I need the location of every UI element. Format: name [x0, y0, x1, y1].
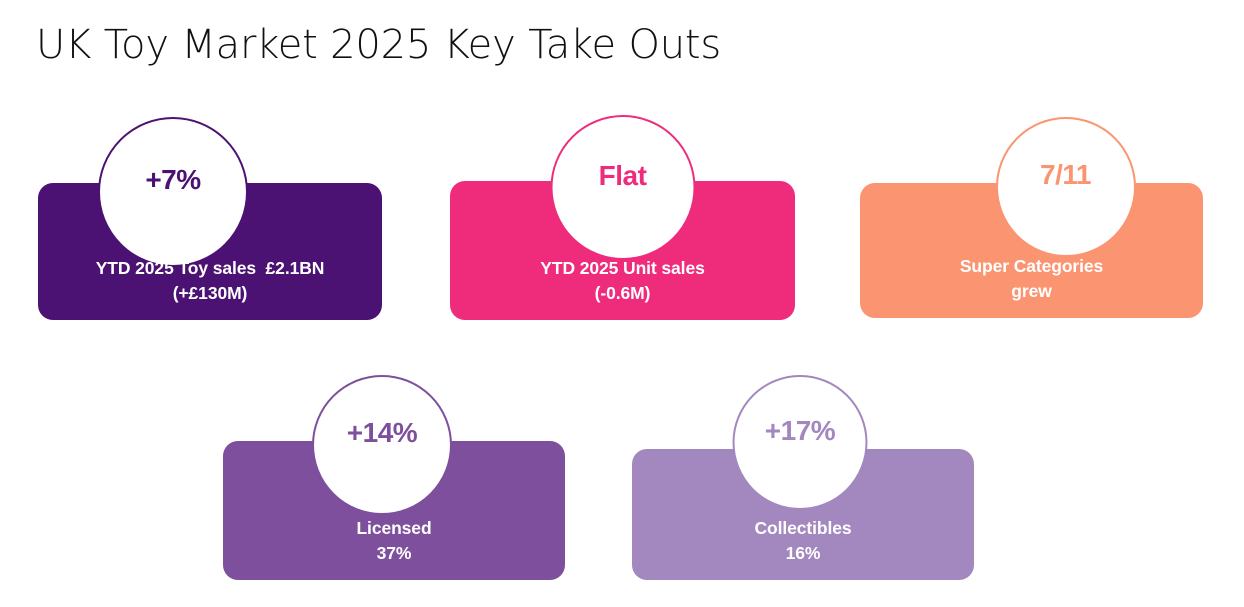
badge-value-unit-sales: Flat	[599, 162, 647, 190]
card-label-line2: (-0.6M)	[595, 281, 651, 306]
key-takeouts-cards: YTD 2025 Toy sales £2.1BN (+£130M) +7% Y…	[0, 0, 1244, 607]
badge-circle-super-categories: 7/11	[996, 117, 1136, 257]
card-label-line1: YTD 2025 Unit sales	[540, 256, 704, 281]
card-label-line1: Super Categories	[960, 254, 1103, 279]
card-label-line2: 37%	[377, 541, 412, 566]
stat-card-licensed[interactable]: Licensed 37% +14%	[223, 375, 565, 580]
badge-value-toy-sales: +7%	[145, 166, 200, 194]
badge-value-super-categories: 7/11	[1040, 161, 1091, 189]
stat-card-toy-sales[interactable]: YTD 2025 Toy sales £2.1BN (+£130M) +7%	[38, 117, 382, 320]
stat-card-super-categories[interactable]: Super Categories grew 7/11	[860, 117, 1203, 318]
card-label-line1: Collectibles	[754, 516, 851, 541]
card-label-line2: 16%	[786, 541, 821, 566]
card-label-line1: YTD 2025 Toy sales £2.1BN	[96, 256, 325, 281]
badge-circle-collectibles: +17%	[733, 375, 868, 510]
card-label-line1: Licensed	[356, 516, 431, 541]
badge-circle-licensed: +14%	[312, 375, 452, 515]
badge-value-collectibles: +17%	[765, 417, 835, 445]
badge-value-licensed: +14%	[347, 419, 417, 447]
badge-circle-unit-sales: Flat	[550, 115, 695, 260]
card-label-line2: grew	[1011, 279, 1051, 304]
card-label-line2: (+£130M)	[173, 281, 248, 306]
stat-card-unit-sales[interactable]: YTD 2025 Unit sales (-0.6M) Flat	[450, 115, 795, 320]
stat-card-collectibles[interactable]: Collectibles 16% +17%	[632, 375, 974, 580]
badge-circle-toy-sales: +7%	[98, 117, 248, 267]
